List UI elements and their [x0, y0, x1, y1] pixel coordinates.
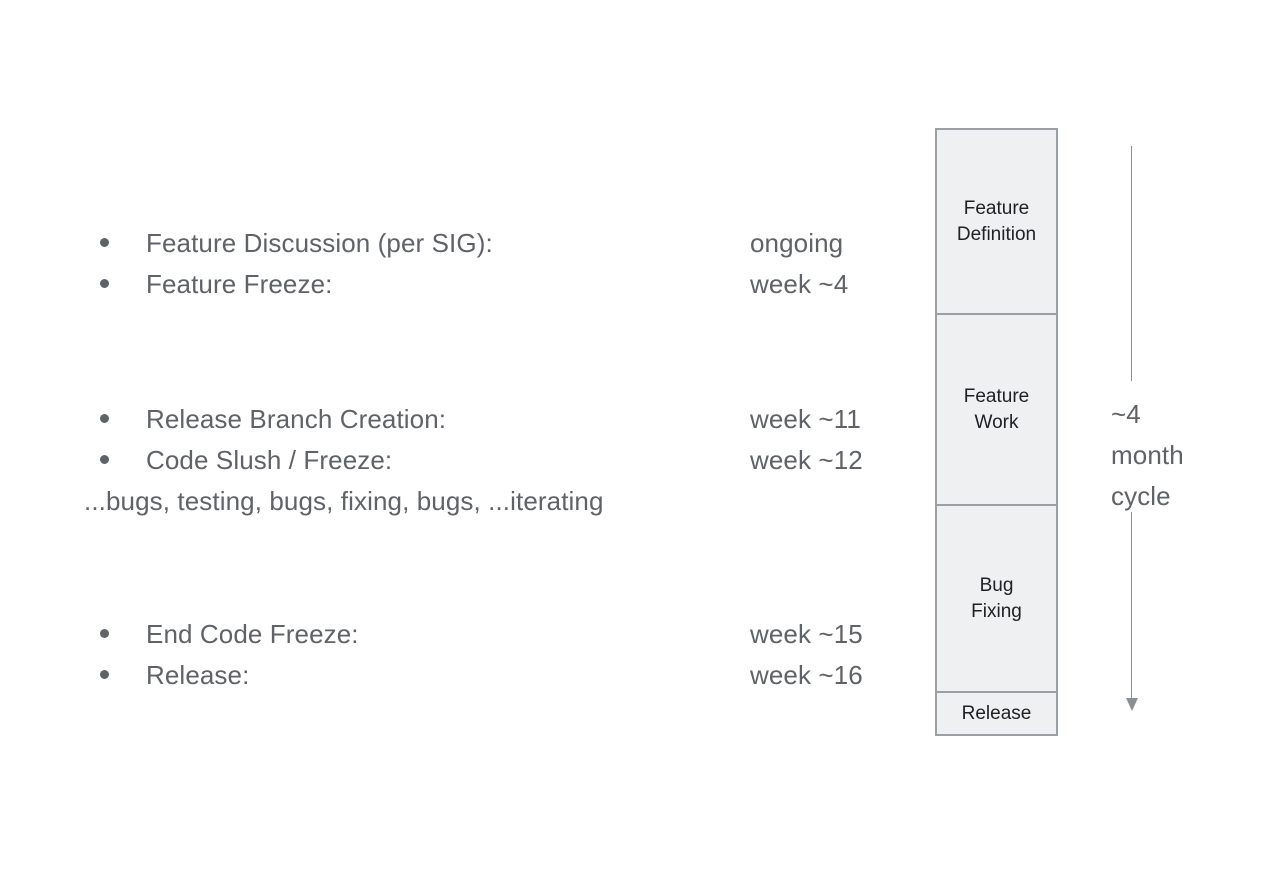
cycle-label-line1: ~4: [1111, 394, 1261, 435]
schedule-row: Code Slush / Freeze: week ~12: [88, 445, 898, 486]
schedule-row-value: week ~11: [750, 404, 861, 435]
cycle-arrow-head-icon: [1126, 698, 1138, 711]
bullet-marker: [88, 284, 146, 293]
phase-label-line2: Definition: [957, 224, 1036, 245]
phase-label-line1: Feature: [964, 198, 1029, 219]
phase-label: Release: [962, 701, 1032, 727]
schedule-group-feature-work: Release Branch Creation: week ~11 Code S…: [88, 404, 898, 486]
schedule-row: End Code Freeze: week ~15: [88, 619, 898, 660]
schedule-row-value: week ~12: [750, 445, 863, 476]
bullet-marker: [88, 419, 146, 428]
schedule-row: Feature Freeze: week ~4: [88, 269, 898, 310]
phase-label-line1: Feature: [964, 386, 1029, 407]
schedule-row-label: End Code Freeze:: [146, 619, 750, 650]
cycle-arrow-line-top: [1131, 146, 1132, 381]
phase-label-line2: Fixing: [971, 601, 1022, 622]
cycle-label-line3: cycle: [1111, 476, 1261, 517]
schedule-group-feature-definition: Feature Discussion (per SIG): ongoing Fe…: [88, 228, 898, 310]
phase-label: Bug Fixing: [971, 573, 1022, 624]
cycle-arrow-line-bottom: [1131, 512, 1132, 700]
phase-feature-work: Feature Work: [937, 315, 1056, 506]
schedule-row: Feature Discussion (per SIG): ongoing: [88, 228, 898, 269]
schedule-row-label: Code Slush / Freeze:: [146, 445, 750, 476]
schedule-group-release: End Code Freeze: week ~15 Release: week …: [88, 619, 898, 701]
phase-label-line1: Bug: [980, 575, 1014, 596]
iterating-note: ...bugs, testing, bugs, fixing, bugs, ..…: [84, 486, 898, 527]
phase-bug-fixing: Bug Fixing: [937, 506, 1056, 693]
release-schedule-list: Feature Discussion (per SIG): ongoing Fe…: [88, 228, 898, 701]
bullet-marker: [88, 243, 146, 252]
schedule-row-label: Release Branch Creation:: [146, 404, 750, 435]
spacer: [88, 527, 898, 619]
schedule-row: Release: week ~16: [88, 660, 898, 701]
spacer: [88, 310, 898, 404]
schedule-row-label: Feature Freeze:: [146, 269, 750, 300]
release-phase-column: Feature Definition Feature Work Bug Fixi…: [935, 128, 1058, 736]
schedule-row: Release Branch Creation: week ~11: [88, 404, 898, 445]
schedule-row-value: week ~4: [750, 269, 848, 300]
bullet-marker: [88, 460, 146, 469]
phase-label-line2: Work: [975, 412, 1019, 433]
schedule-row-value: week ~16: [750, 660, 863, 691]
schedule-row-label: Release:: [146, 660, 750, 691]
phase-label: Feature Definition: [957, 196, 1036, 247]
schedule-row-value: week ~15: [750, 619, 863, 650]
bullet-marker: [88, 634, 146, 643]
schedule-row-value: ongoing: [750, 228, 843, 259]
bullet-marker: [88, 675, 146, 684]
schedule-row-label: Feature Discussion (per SIG):: [146, 228, 750, 259]
cycle-duration-label: ~4 month cycle: [1111, 394, 1261, 517]
phase-release: Release: [937, 693, 1056, 734]
phase-label: Feature Work: [964, 384, 1029, 435]
slide-canvas: Feature Discussion (per SIG): ongoing Fe…: [0, 0, 1280, 895]
cycle-label-line2: month: [1111, 435, 1261, 476]
phase-feature-definition: Feature Definition: [937, 130, 1056, 315]
